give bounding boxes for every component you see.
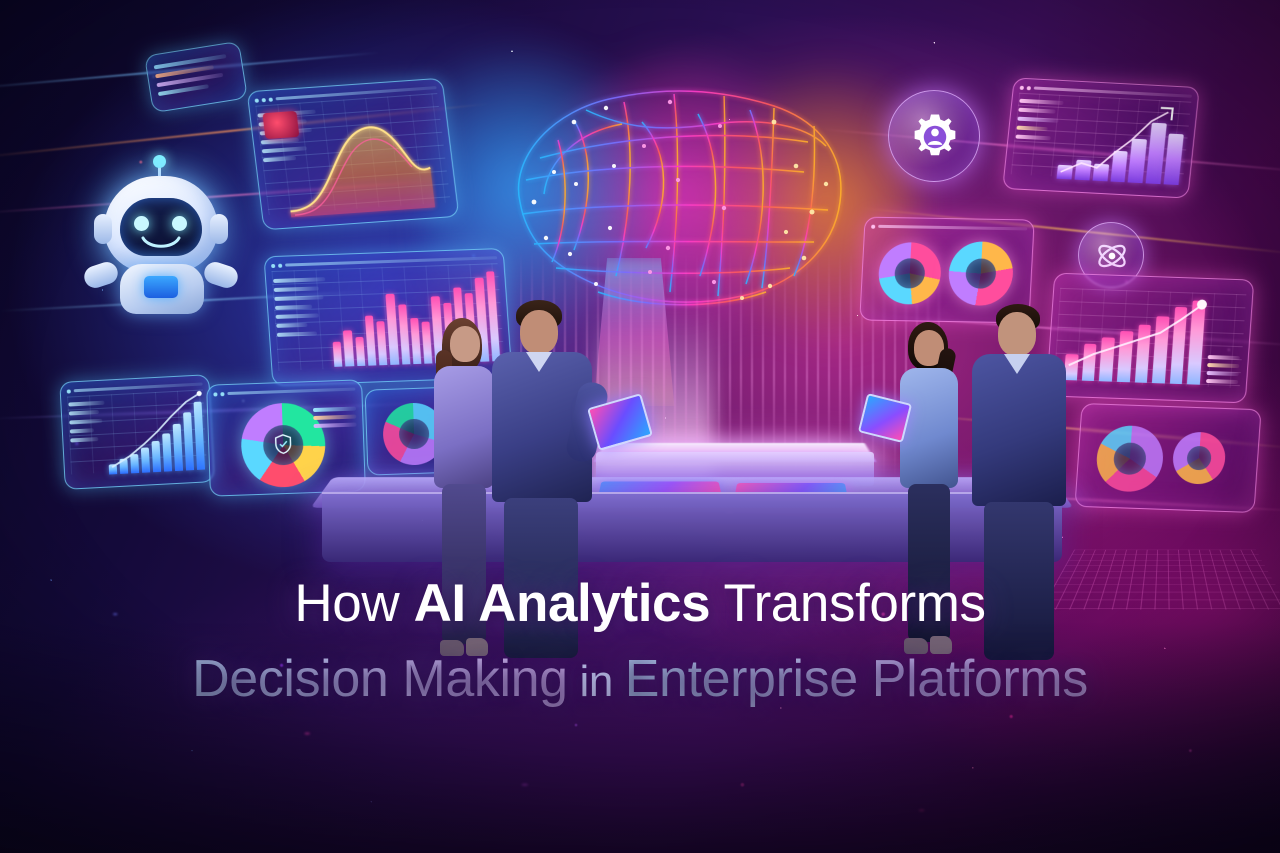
panel-title-line <box>227 388 355 395</box>
head <box>520 310 558 354</box>
panel-dot <box>220 392 224 396</box>
head <box>998 312 1036 356</box>
robot-eye-right <box>172 216 187 231</box>
panel-bars-trend-right[interactable] <box>1046 273 1255 404</box>
panel-thumb <box>262 111 299 139</box>
headline-line-2: Decision Making in Enterprise Platforms <box>0 647 1280 714</box>
headline-connector: in <box>568 657 625 706</box>
torso-blazer <box>900 368 958 488</box>
panel-dot <box>213 392 217 396</box>
panel-title-line <box>878 225 1027 231</box>
robot-eye-left <box>134 216 149 231</box>
gear-icon <box>908 110 962 164</box>
panel-wave-analytics[interactable] <box>247 78 460 231</box>
panel-titlebar <box>871 223 1027 233</box>
arrow-trend-line-icon <box>1003 78 1199 198</box>
gauge-icon <box>947 241 1014 306</box>
headline-block: How AI Analytics Transforms Decision Mak… <box>0 573 1280 714</box>
shield-icon <box>272 433 295 456</box>
robot-smile-icon <box>141 236 181 252</box>
head <box>450 326 480 362</box>
trend-line-with-endpoint-icon <box>1047 274 1254 403</box>
panel-feed-topleft[interactable] <box>144 41 248 113</box>
hero-banner: How AI Analytics Transforms Decision Mak… <box>0 0 1280 853</box>
torso-suit <box>972 354 1066 506</box>
panel-dot <box>271 263 275 267</box>
gear-settings-badge[interactable] <box>888 90 980 182</box>
panel-readout <box>1206 355 1240 384</box>
ai-robot-mascot[interactable] <box>86 168 236 310</box>
robot-chest-panel <box>144 276 178 298</box>
trend-up-icon <box>60 375 213 489</box>
panel-radar-pair-right[interactable] <box>1074 403 1261 513</box>
headline-light-tail: Transforms <box>710 574 985 633</box>
torso-blazer <box>434 366 494 488</box>
robot-ear-left <box>94 214 112 244</box>
headline-line2-lead: Decision Making <box>192 650 568 708</box>
robot-ear-right <box>210 214 228 244</box>
headline-line-1: How AI Analytics Transforms <box>0 573 1280 635</box>
atom-icon <box>1094 238 1130 274</box>
radar-icon <box>1095 425 1166 493</box>
panel-growth-trend[interactable] <box>59 374 214 490</box>
headline-light-lead: How <box>294 574 413 633</box>
panel-side-labels <box>273 277 329 337</box>
headline-line2-tail: Enterprise Platforms <box>625 650 1088 708</box>
panel-upward-bars-right[interactable] <box>1002 77 1200 198</box>
panel-readout <box>313 407 357 428</box>
robot-antenna-tip <box>153 155 166 168</box>
wave-chart-icon <box>248 79 460 231</box>
gauge-icon <box>877 242 942 305</box>
panel-dot <box>871 224 875 228</box>
headline-bold-phrase: AI Analytics <box>414 574 711 633</box>
radar-icon <box>1171 431 1227 485</box>
panel-titlebar <box>213 386 355 398</box>
panel-dot <box>278 263 282 267</box>
